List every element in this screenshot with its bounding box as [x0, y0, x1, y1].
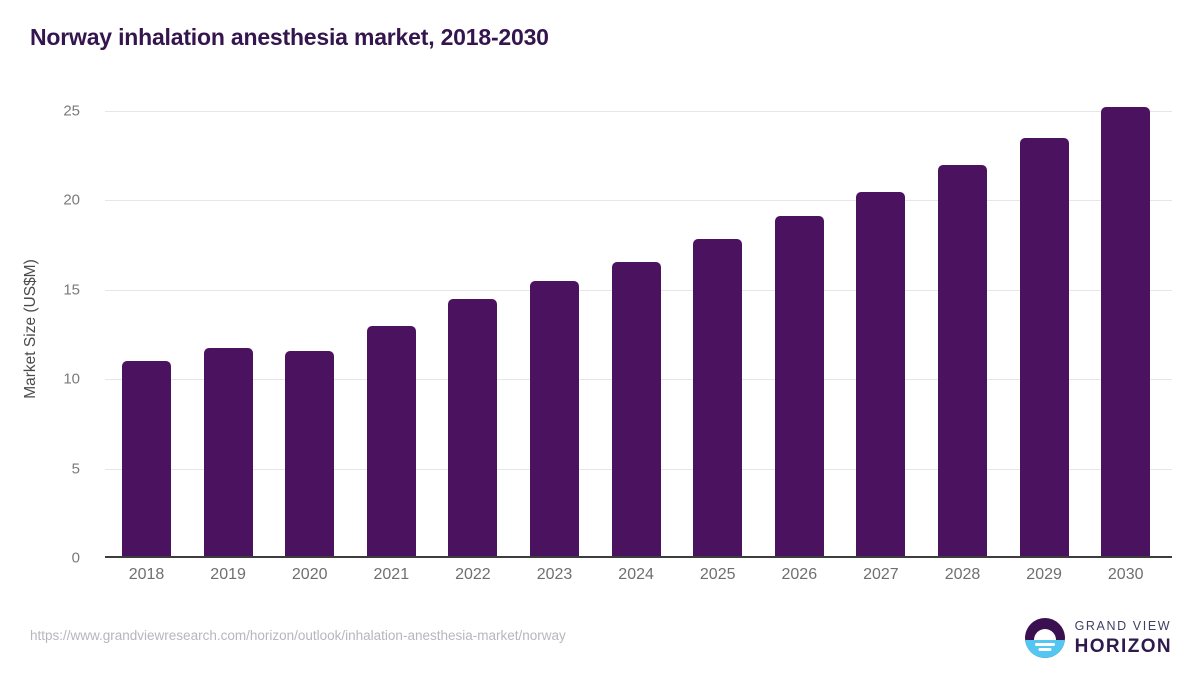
x-tick-label-2028: 2028 — [923, 566, 1003, 584]
x-tick-label-2021: 2021 — [351, 566, 431, 584]
y-axis-title: Market Size (US$M) — [18, 100, 44, 558]
logo-line-grand-view: GRAND VIEW — [1075, 620, 1172, 633]
source-url[interactable]: https://www.grandviewresearch.com/horizo… — [30, 628, 566, 643]
bar-2019[interactable] — [204, 348, 253, 557]
x-tick-label-2022: 2022 — [433, 566, 513, 584]
y-tick-label: 15 — [20, 281, 80, 298]
bar-2028[interactable] — [938, 165, 987, 557]
y-tick-label: 5 — [20, 460, 80, 477]
page-title: Norway inhalation anesthesia market, 201… — [30, 24, 549, 51]
bars-layer — [105, 100, 1172, 558]
bar-2027[interactable] — [856, 192, 905, 557]
logo-bar-lower — [1038, 648, 1051, 651]
y-tick-label: 10 — [20, 371, 80, 388]
grand-view-horizon-logo[interactable]: GRAND VIEW HORIZON — [1025, 618, 1172, 658]
x-tick-label-2020: 2020 — [270, 566, 350, 584]
horizon-circle-icon — [1025, 618, 1065, 658]
y-tick-label: 25 — [20, 103, 80, 120]
logo-text: GRAND VIEW HORIZON — [1075, 620, 1172, 656]
bar-2025[interactable] — [693, 239, 742, 557]
bar-2030[interactable] — [1101, 107, 1150, 557]
y-tick-label: 20 — [20, 192, 80, 209]
logo-bar-upper — [1035, 643, 1055, 646]
bar-2018[interactable] — [122, 361, 171, 557]
x-tick-label-2029: 2029 — [1004, 566, 1084, 584]
bar-2026[interactable] — [775, 216, 824, 558]
bar-2021[interactable] — [367, 326, 416, 557]
bar-2029[interactable] — [1020, 138, 1069, 557]
x-tick-label-2030: 2030 — [1086, 566, 1166, 584]
x-tick-label-2027: 2027 — [841, 566, 921, 584]
logo-line-horizon: HORIZON — [1075, 637, 1172, 656]
bar-2023[interactable] — [530, 281, 579, 557]
plot-area: 0510152025 — [105, 100, 1172, 558]
x-tick-label-2024: 2024 — [596, 566, 676, 584]
x-tick-label-2019: 2019 — [188, 566, 268, 584]
x-tick-label-2023: 2023 — [515, 566, 595, 584]
x-axis-line — [105, 556, 1172, 558]
x-axis-ticks: 2018201920202021202220232024202520262027… — [105, 566, 1172, 592]
bar-2024[interactable] — [612, 262, 661, 557]
bar-2022[interactable] — [448, 299, 497, 557]
x-tick-label-2026: 2026 — [759, 566, 839, 584]
chart-page: Norway inhalation anesthesia market, 201… — [0, 0, 1200, 675]
y-tick-label: 0 — [20, 550, 80, 567]
x-tick-label-2025: 2025 — [678, 566, 758, 584]
x-tick-label-2018: 2018 — [107, 566, 187, 584]
logo-dome-shape — [1034, 629, 1056, 640]
bar-2020[interactable] — [285, 351, 334, 558]
